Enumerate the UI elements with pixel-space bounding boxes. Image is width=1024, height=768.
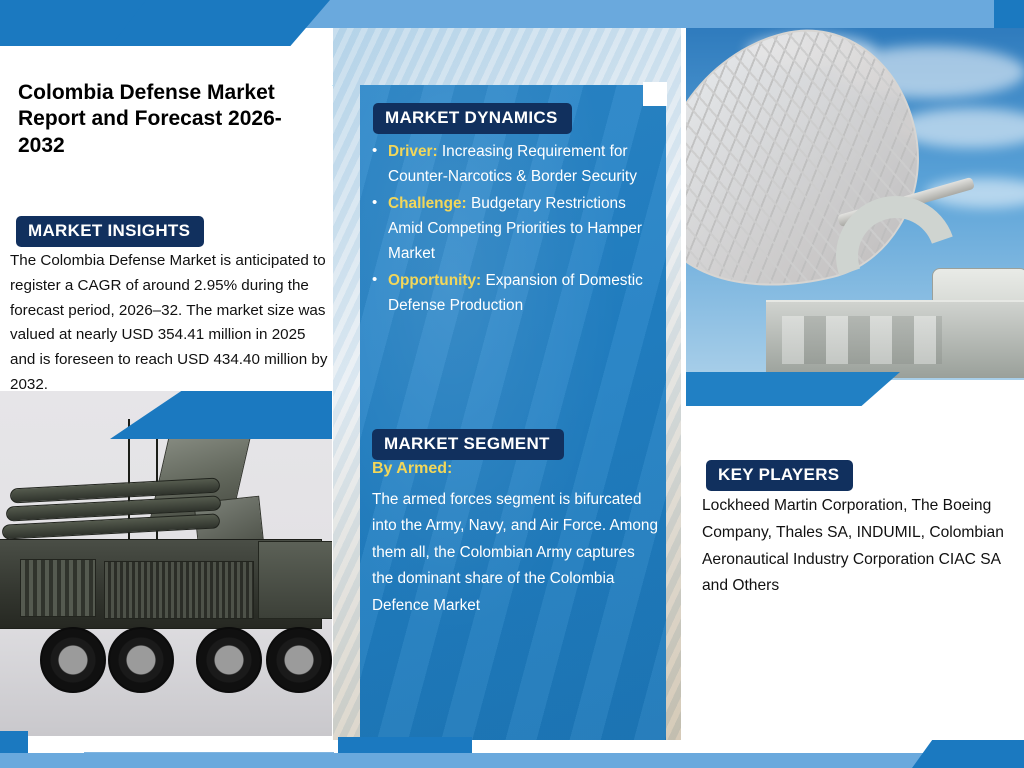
page-title: Colombia Defense Market Report and Forec… (18, 80, 318, 159)
bottom-light-band (0, 753, 1024, 768)
vehicle-wheel (108, 627, 174, 693)
market-dynamics-badge: MARKET DYNAMICS (373, 103, 572, 134)
market-segment-body: The armed forces segment is bifurcated i… (372, 487, 658, 619)
dynamics-item-label: Driver: (388, 143, 438, 160)
key-players-body: Lockheed Martin Corporation, The Boeing … (702, 493, 1022, 600)
military-vehicle-photo (0, 391, 332, 736)
vehicle-wheel (40, 627, 106, 693)
market-insights-badge: MARKET INSIGHTS (16, 216, 204, 247)
dynamics-item-driver: Driver: Increasing Requirement for Count… (372, 140, 658, 190)
market-segment-subtitle: By Armed: (372, 460, 652, 478)
dynamics-item-label: Challenge: (388, 195, 467, 212)
dynamics-item-opportunity: Opportunity: Expansion of Domestic Defen… (372, 269, 658, 319)
satellite-dish-photo (686, 28, 1024, 380)
key-players-badge: KEY PLAYERS (706, 460, 853, 491)
market-segment-badge: MARKET SEGMENT (372, 429, 564, 460)
vehicle-wheel (196, 627, 262, 693)
dish-base-panels (782, 316, 942, 364)
left-column: Colombia Defense Market Report and Forec… (0, 46, 332, 388)
dynamics-item-challenge: Challenge: Budgetary Restrictions Amid C… (372, 192, 658, 267)
market-dynamics-list: Driver: Increasing Requirement for Count… (372, 140, 658, 321)
top-right-square-accent (994, 0, 1024, 30)
vehicle-wheel (266, 627, 332, 693)
vehicle-grille (104, 561, 254, 619)
market-insights-body: The Colombia Defense Market is anticipat… (10, 249, 330, 398)
infographic-canvas: Colombia Defense Market Report and Forec… (0, 0, 1024, 768)
bottom-right-blue-accent (912, 740, 1024, 768)
vehicle-cab (258, 541, 332, 619)
right-photo-blue-accent (686, 372, 900, 406)
dynamics-item-label: Opportunity: (388, 272, 481, 289)
bottom-center-blue-bar (338, 737, 472, 753)
panel-corner-notch (643, 82, 667, 106)
left-photo-blue-accent (110, 391, 332, 439)
vehicle-side-panel (20, 559, 96, 617)
